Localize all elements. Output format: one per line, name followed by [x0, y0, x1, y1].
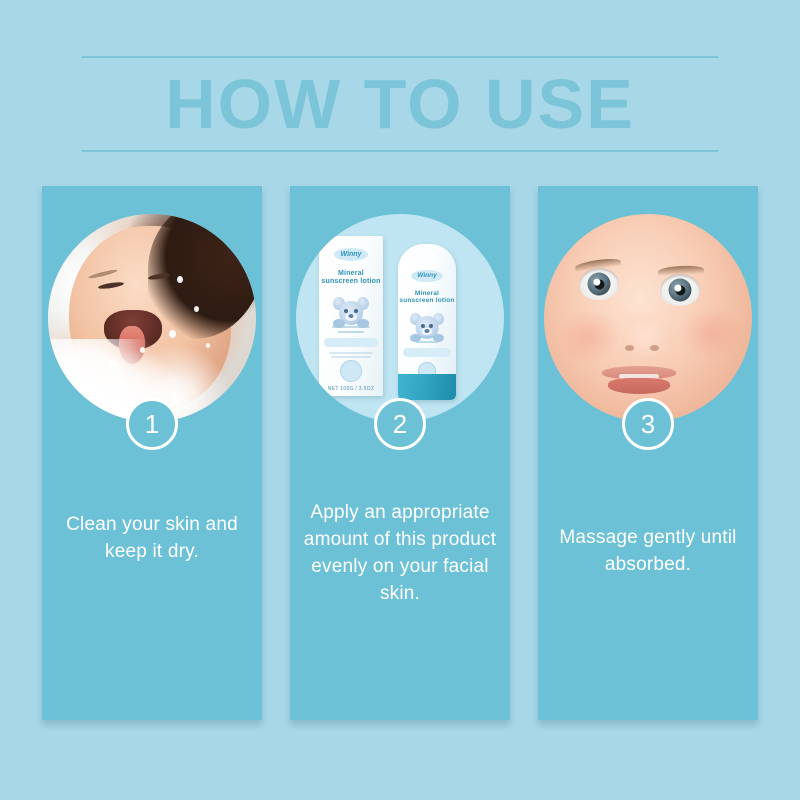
step-caption-2: Apply an appropriate amount of this prod… — [298, 499, 502, 607]
tube-cap — [398, 374, 456, 400]
title-rule-bottom — [82, 150, 718, 152]
step-card-1[interactable]: 1 Clean your skin and keep it dry. — [42, 186, 262, 720]
step-number-badge-1: 1 — [126, 398, 178, 450]
baby-face-closeup-photo — [544, 214, 752, 422]
page-header: HOW TO USE — [0, 0, 800, 185]
product-name-tube: Mineral sunscreen lotion — [398, 290, 456, 305]
product-name-tube-line2: sunscreen lotion — [399, 297, 454, 304]
step-card-2[interactable]: Winny Mineral sunscreen lotion — [290, 186, 510, 720]
product-net-weight: NET 100G / 3.5OZ — [319, 386, 383, 392]
step-card-3[interactable]: 3 Massage gently until absorbed. — [538, 186, 758, 720]
product-brand-tube: Winny — [411, 270, 443, 282]
step-number-badge-3: 3 — [622, 398, 674, 450]
product-name-box: Mineral sunscreen lotion — [319, 270, 383, 286]
step-caption-1: Clean your skin and keep it dry. — [50, 511, 254, 565]
product-name-line2: sunscreen lotion — [321, 278, 380, 285]
page-title: HOW TO USE — [0, 61, 800, 147]
product-name-line1: Mineral — [338, 270, 364, 277]
step-caption-3: Massage gently until absorbed. — [546, 524, 750, 578]
product-brand-box: Winny — [334, 248, 368, 261]
sunscreen-product-box-and-tube-photo: Winny Mineral sunscreen lotion — [296, 214, 504, 422]
steps-row: 1 Clean your skin and keep it dry. Winny… — [42, 186, 758, 720]
teddy-bear-icon — [331, 294, 371, 328]
product-name-tube-line1: Mineral — [415, 290, 439, 297]
step-number-badge-2: 2 — [374, 398, 426, 450]
product-tube: Winny Mineral sunscreen lotion — [398, 244, 456, 400]
baby-splashing-in-bath-photo — [48, 214, 256, 422]
title-rule-top — [82, 56, 718, 58]
product-box: Winny Mineral sunscreen lotion — [319, 236, 383, 396]
